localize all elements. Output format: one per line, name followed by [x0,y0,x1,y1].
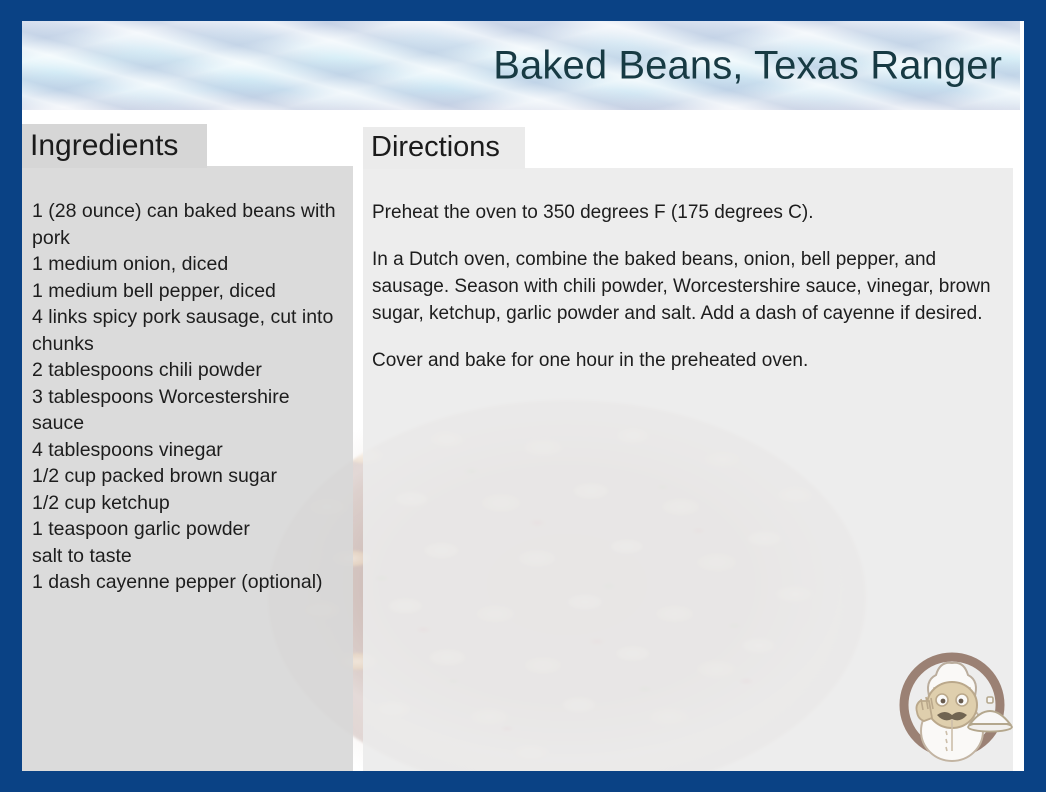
page-title: Baked Beans, Texas Ranger [493,43,1002,88]
ingredient-item: 2 tablespoons chili powder [32,357,343,384]
ingredient-item: 1/2 cup packed brown sugar [32,463,343,490]
direction-step: In a Dutch oven, combine the baked beans… [372,246,1005,327]
ingredient-item: 3 tablespoons Worcestershire sauce [32,384,343,437]
ingredient-item: salt to taste [32,543,343,570]
ingredient-item: 1 (28 ounce) can baked beans with pork [32,198,343,251]
ingredient-item: 1 medium bell pepper, diced [32,278,343,305]
directions-body: Preheat the oven to 350 degrees F (175 d… [363,199,1013,374]
directions-heading: Directions [371,127,500,168]
ingredients-list: 1 (28 ounce) can baked beans with pork1 … [24,198,351,596]
title-banner: Baked Beans, Texas Ranger [22,21,1020,110]
direction-step: Cover and bake for one hour in the prehe… [372,347,1005,374]
ingredients-heading: Ingredients [30,125,178,167]
ingredient-item: 1/2 cup ketchup [32,490,343,517]
recipe-card: Baked Beans, Texas Ranger 1 (28 ounce) c… [0,0,1046,792]
ingredient-item: 4 tablespoons vinegar [32,437,343,464]
ingredients-panel: 1 (28 ounce) can baked beans with pork1 … [22,166,353,771]
page-surface: Baked Beans, Texas Ranger 1 (28 ounce) c… [22,21,1024,771]
chef-logo-icon [890,639,1014,763]
direction-step: Preheat the oven to 350 degrees F (175 d… [372,199,1005,226]
ingredient-item: 4 links spicy pork sausage, cut into chu… [32,304,343,357]
ingredient-item: 1 teaspoon garlic powder [32,516,343,543]
ingredient-item: 1 dash cayenne pepper (optional) [32,569,343,596]
ingredient-item: 1 medium onion, diced [32,251,343,278]
